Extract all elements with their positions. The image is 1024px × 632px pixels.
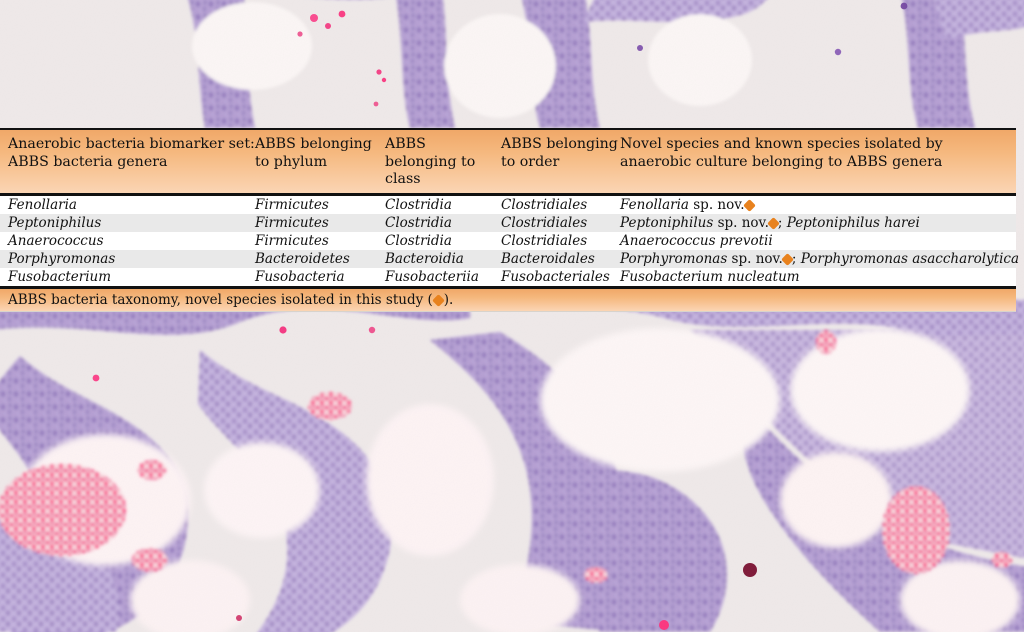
footnote-text-before: ABBS bacteria taxonomy, novel species is…	[8, 292, 433, 308]
cell-genus: Peptoniphilus	[0, 214, 255, 232]
table-row: PorphyromonasBacteroidetesBacteroidiaBac…	[0, 250, 1016, 268]
footnote-text: ABBS bacteria taxonomy, novel species is…	[8, 291, 453, 309]
species-name-secondary: Porphyromonas asaccharolytica	[801, 251, 1019, 267]
histology-micrograph	[0, 0, 1024, 632]
cell-order: Clostridiales	[501, 196, 620, 214]
cell-order: Clostridiales	[501, 214, 620, 232]
cell-genus: Porphyromonas	[0, 250, 255, 268]
table-row: AnaerococcusFirmicutesClostridiaClostrid…	[0, 232, 1016, 250]
species-name-primary: Fenollaria	[620, 197, 689, 213]
cell-phylum: Bacteroidetes	[255, 250, 385, 268]
cell-class: Clostridia	[385, 232, 501, 250]
species-sp-nov-label: sp. nov.	[713, 215, 769, 231]
table-body: FenollariaFirmicutesClostridiaClostridia…	[0, 193, 1016, 286]
table-row: PeptoniphilusFirmicutesClostridiaClostri…	[0, 214, 1016, 232]
cell-phylum: Firmicutes	[255, 232, 385, 250]
species-sp-nov-label: sp. nov.	[689, 197, 745, 213]
cell-species: Porphyromonas sp. nov.; Porphyromonas as…	[620, 250, 1008, 268]
cell-genus: Fenollaria	[0, 196, 255, 214]
species-name-primary: Porphyromonas	[620, 251, 727, 267]
species-name-primary: Fusobacterium nucleatum	[620, 269, 800, 285]
cell-phylum: Firmicutes	[255, 214, 385, 232]
column-header-class: ABBS belonging to class	[385, 136, 501, 189]
cell-genus: Anaerococcus	[0, 232, 255, 250]
cell-class: Clostridia	[385, 196, 501, 214]
column-header-genera: Anaerobic bacteria biomarker set: ABBS b…	[0, 136, 255, 189]
column-header-order: ABBS belonging to order	[501, 136, 620, 189]
table-footnote: ABBS bacteria taxonomy, novel species is…	[0, 286, 1016, 312]
column-header-species: Novel species and known species isolated…	[620, 136, 1008, 189]
cell-order: Fusobacteriales	[501, 268, 620, 286]
table-header-row: Anaerobic bacteria biomarker set: ABBS b…	[0, 136, 1016, 189]
species-name-primary: Anaerococcus prevotii	[620, 233, 773, 249]
taxonomy-table: Anaerobic bacteria biomarker set: ABBS b…	[0, 128, 1016, 312]
cell-species: Fenollaria sp. nov.	[620, 196, 1008, 214]
cell-species: Fusobacterium nucleatum	[620, 268, 1008, 286]
table-row: FenollariaFirmicutesClostridiaClostridia…	[0, 196, 1016, 214]
cell-class: Bacteroidia	[385, 250, 501, 268]
table-header: Anaerobic bacteria biomarker set: ABBS b…	[0, 128, 1016, 193]
novel-species-diamond-icon	[432, 294, 445, 307]
table-row: FusobacteriumFusobacteriaFusobacteriiaFu…	[0, 268, 1016, 286]
cell-class: Fusobacteriia	[385, 268, 501, 286]
cell-species: Anaerococcus prevotii	[620, 232, 1008, 250]
column-header-phylum: ABBS belonging to phylum	[255, 136, 385, 189]
species-name-primary: Peptoniphilus	[620, 215, 713, 231]
cell-class: Clostridia	[385, 214, 501, 232]
cell-phylum: Firmicutes	[255, 196, 385, 214]
cell-species: Peptoniphilus sp. nov.; Peptoniphilus ha…	[620, 214, 1008, 232]
cell-phylum: Fusobacteria	[255, 268, 385, 286]
species-name-secondary: Peptoniphilus harei	[787, 215, 920, 231]
cell-order: Bacteroidales	[501, 250, 620, 268]
species-sp-nov-label: sp. nov.	[727, 251, 783, 267]
cell-genus: Fusobacterium	[0, 268, 255, 286]
cell-order: Clostridiales	[501, 232, 620, 250]
footnote-text-after: ).	[444, 292, 454, 308]
